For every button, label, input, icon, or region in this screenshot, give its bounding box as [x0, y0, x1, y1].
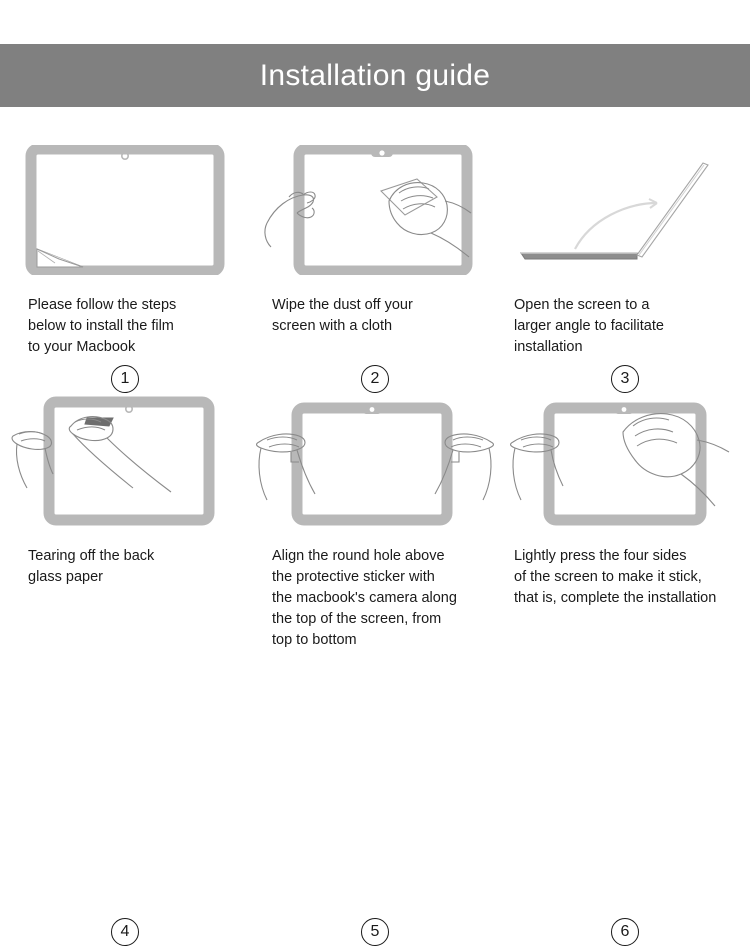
step-number-6: 6: [611, 918, 639, 946]
step-4-illustration: [0, 396, 250, 536]
laptop-open-angle-icon: [507, 145, 743, 275]
header-bar: Installation guide: [0, 44, 750, 107]
step-card-3: Open the screen to a larger angle to fac…: [500, 107, 750, 358]
step-number-5: 5: [361, 918, 389, 946]
step-card-1: Please follow the steps below to install…: [0, 107, 250, 358]
step-4-number-wrap: 4: [0, 918, 250, 946]
step-card-2: Wipe the dust off your screen with a clo…: [250, 107, 500, 358]
step-card-5: Align the round hole above the protectiv…: [250, 358, 500, 651]
step-1-caption: Please follow the steps below to install…: [0, 295, 250, 358]
aligning-film-two-hands-icon: [255, 396, 495, 526]
step-4-caption: Tearing off the back glass paper: [0, 546, 250, 588]
steps-grid: Please follow the steps below to install…: [0, 107, 750, 651]
step-2-illustration: [250, 145, 500, 285]
step-2-caption: Wipe the dust off your screen with a clo…: [250, 295, 500, 337]
step-5-illustration: [250, 396, 500, 536]
step-6-number-wrap: 6: [500, 918, 750, 946]
screen-with-peeling-film-icon: [25, 145, 225, 275]
step-3-caption: Open the screen to a larger angle to fac…: [500, 295, 750, 358]
step-number-4: 4: [111, 918, 139, 946]
step-card-4: Tearing off the back glass paper 4: [0, 358, 250, 651]
step-1-illustration: [0, 145, 250, 285]
pressing-screen-sides-icon: [507, 396, 743, 526]
step-5-caption: Align the round hole above the protectiv…: [250, 546, 500, 651]
step-6-illustration: [500, 396, 750, 536]
step-3-illustration: [500, 145, 750, 285]
page-title: Installation guide: [260, 59, 491, 93]
step-card-6: Lightly press the four sides of the scre…: [500, 358, 750, 651]
hand-wiping-screen-icon: [259, 145, 491, 275]
step-5-number-wrap: 5: [250, 918, 500, 946]
tearing-back-paper-icon: [9, 396, 241, 526]
step-6-caption: Lightly press the four sides of the scre…: [500, 546, 750, 609]
